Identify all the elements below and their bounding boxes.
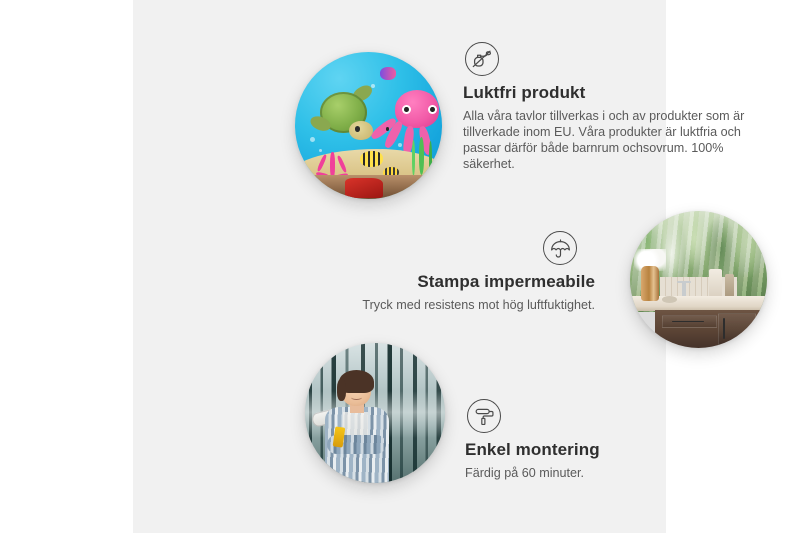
photo-painter-forest-wallpaper — [305, 343, 445, 483]
striped-fish-icon — [360, 151, 384, 167]
feature-description: Färdig på 60 minuter. — [465, 465, 725, 481]
feature-panel: Luktfri produkt Alla våra tavlor tillver… — [133, 0, 666, 533]
feature-description: Alla våra tavlor tillverkas i och av pro… — [463, 108, 759, 173]
feature-odour-free: Luktfri produkt Alla våra tavlor tillver… — [463, 42, 759, 172]
cabinet-door — [718, 313, 756, 345]
ocean-scene — [295, 52, 442, 199]
bottle — [709, 269, 721, 299]
cabinet-drawer — [662, 315, 717, 329]
promo-banner: Luktfri produkt Alla våra tavlor tillver… — [0, 0, 800, 533]
coral — [316, 143, 351, 178]
feature-easy-mounting: Enkel montering Färdig på 60 minuter. — [465, 399, 725, 481]
bubble-icon — [398, 143, 402, 147]
bubble-icon — [310, 137, 315, 142]
bottle — [725, 274, 735, 299]
purple-fish-icon — [380, 67, 396, 80]
vase — [641, 266, 659, 302]
feature-title: Enkel montering — [465, 440, 725, 460]
turtle-head — [349, 121, 373, 140]
feature-title: Luktfri produkt — [463, 83, 759, 103]
soap-dish — [662, 296, 677, 303]
feature-waterproof-print: Stampa impermeabile Tryck med resistens … — [329, 231, 595, 313]
vanity-cabinet — [655, 310, 767, 348]
photo-ocean-kids-mural — [295, 52, 442, 199]
paint-roller-icon — [467, 399, 501, 433]
photo-bathroom-tropical-wallpaper — [630, 211, 767, 348]
painter-scene — [305, 343, 445, 483]
woman-hair — [339, 370, 374, 394]
umbrella-icon — [543, 231, 577, 265]
feature-title: Stampa impermeabile — [329, 272, 595, 292]
no-odour-perfume-icon — [465, 42, 499, 76]
feature-description: Tryck med resistens mot hög luftfuktighe… — [329, 297, 595, 313]
foreground-red-object — [345, 178, 383, 197]
bathroom-scene — [630, 211, 767, 348]
